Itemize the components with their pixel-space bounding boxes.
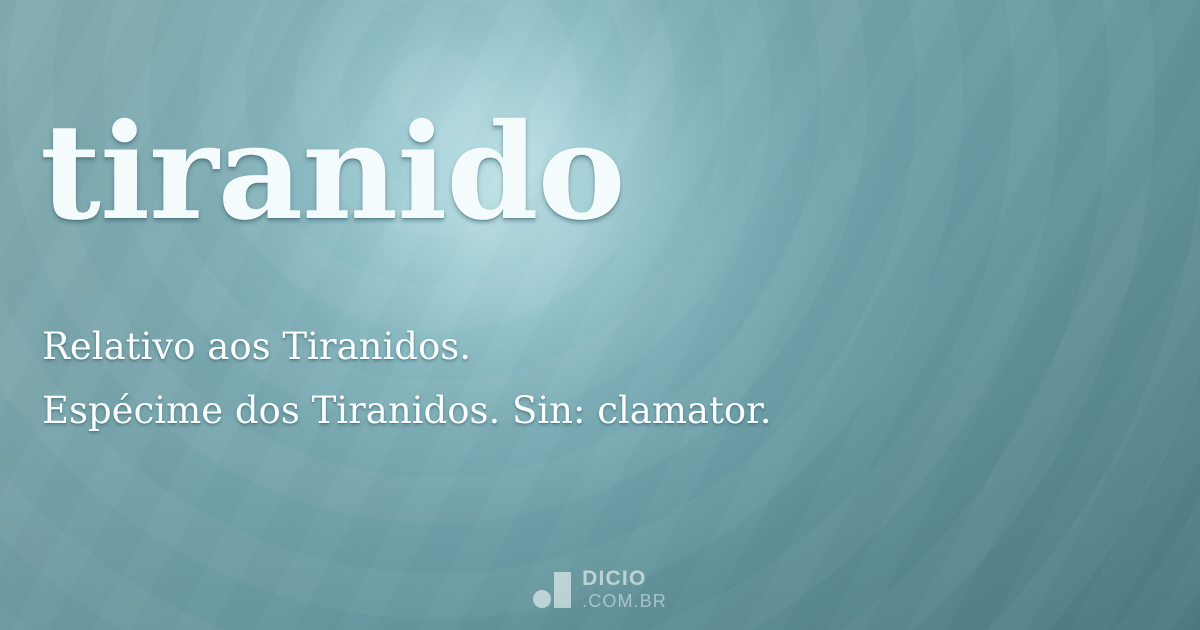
card-content: tiranido Relativo aos Tiranidos. Espécim… — [0, 0, 1200, 630]
dicio-logo: DICIO .COM.BR — [0, 568, 1200, 610]
dicio-logo-mark-icon — [533, 571, 571, 608]
dicio-logo-wordmark: DICIO .COM.BR — [582, 568, 667, 610]
definition-list: Relativo aos Tiranidos. Espécime dos Tir… — [42, 315, 1162, 443]
word-definition-card: tiranido Relativo aos Tiranidos. Espécim… — [0, 0, 1200, 630]
circle-icon — [533, 590, 551, 608]
dicio-logo-name: DICIO — [582, 568, 667, 589]
definition-line-1: Relativo aos Tiranidos. — [42, 315, 1162, 379]
headword: tiranido — [40, 107, 625, 239]
dicio-logo-tld: .COM.BR — [582, 592, 667, 610]
bar-icon — [554, 572, 571, 608]
definition-line-2: Espécime dos Tiranidos. Sin: clamator. — [42, 379, 1162, 443]
